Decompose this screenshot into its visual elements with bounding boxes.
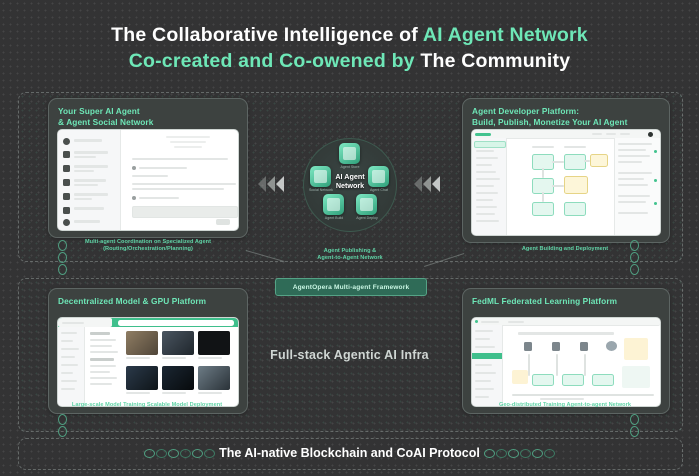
mock-row [476,185,494,187]
chain-link [58,426,67,437]
mock-row [74,170,94,172]
mock-bullet [132,196,136,200]
fullstack-label: Full-stack Agentic AI Infra [0,348,699,362]
mock-row [620,133,630,135]
chain-link-icon [144,449,155,458]
chain-connector-right-bottom [630,414,639,437]
caption-geo-distributed-training: Geo-distributed Training Agent-to-agent … [464,402,666,409]
chain-link [58,252,67,263]
mock-row [62,322,84,325]
mock-row [475,338,490,340]
mock-row [126,392,150,394]
mock-divider [512,394,654,396]
mock-chart-card [622,366,650,388]
mock-row [74,184,98,186]
mock-row [476,157,498,159]
agent-deploy-label: Agent Deploy [345,216,389,221]
mock-row [61,332,77,334]
mock-row [475,330,493,332]
chain-link [630,264,639,275]
caption-agent-building-deployment: Agent Building and Deployment [466,246,664,253]
chevron-group-right [414,176,440,192]
chain-link-icon [532,449,543,458]
mock-flow-node [562,374,584,386]
panel-decentralized-model-gpu-screenshot [57,317,239,407]
mock-icon [63,151,70,158]
mock-flow-node[interactable] [590,154,608,167]
mock-row [476,220,499,222]
mock-model-thumbnail[interactable] [198,366,230,390]
mock-row [74,165,108,168]
mock-row [508,321,524,323]
mock-flow-node[interactable] [564,202,586,216]
mock-avatar [63,138,70,145]
mock-card [512,370,528,384]
fullstack-label-text: Full-stack Agentic AI Infra [270,348,429,362]
mock-row [162,392,186,394]
mock-row [90,339,116,341]
chain-link [58,414,67,425]
chevron-group-left [258,176,284,192]
mock-builder-app [472,130,660,235]
caption-multi-agent-coordination: Multi-agent Coordination on Specialized … [52,239,244,253]
mock-row [618,155,650,157]
mock-flow-link [552,161,564,163]
footer-blockchain-banner: The AI-native Blockchain and CoAI Protoc… [0,440,699,466]
mock-row [132,158,228,160]
mock-row [61,380,77,382]
mock-row [61,388,75,390]
mock-flow-link [584,160,590,162]
chain-link-icon [180,449,191,458]
chevron-left-icon [432,176,440,192]
mock-avatar [648,132,653,137]
mock-row [618,212,648,214]
mock-row [476,150,494,152]
mock-row [198,392,222,394]
mock-row [475,364,492,366]
mock-icon [63,165,70,172]
mock-row [74,179,106,182]
mock-row [90,332,110,335]
mock-status-dot [654,150,657,153]
framework-pill-agentopera[interactable]: AgentOpera Multi-agent Framework [275,278,427,296]
mock-input[interactable] [132,206,238,218]
mock-icon [63,207,70,214]
mock-fedml-app [472,318,660,406]
mock-row [170,141,206,143]
panel-super-ai-agent-title: Your Super AI Agent & Agent Social Netwo… [49,99,247,127]
panel-fedml-federated-learning-title: FedML Federated Learning Platform [463,289,669,307]
mock-chat-app [58,130,238,230]
mock-row [476,164,492,166]
chain-link-icon [156,449,167,458]
mock-row [618,172,652,174]
footer-blockchain-text: The AI-native Blockchain and CoAI Protoc… [219,446,480,460]
mock-icon [63,193,70,200]
mock-row [532,146,554,148]
mock-row [74,151,108,154]
mock-model-hub-app [58,318,238,406]
mock-row [618,184,648,186]
mock-row [476,199,493,201]
chevron-left-icon [423,176,431,192]
mock-row [618,201,646,203]
mock-logo-dot [475,320,478,323]
mock-row [564,146,586,148]
chain-connector-left-bottom [58,414,67,437]
mock-icon [63,179,70,186]
agent-deploy-icon[interactable] [356,194,377,215]
chevron-left-icon [258,176,266,192]
mock-flow-node[interactable] [564,154,586,170]
mock-row [139,167,187,169]
mock-sidebar-active[interactable] [474,141,506,148]
panel-super-ai-agent[interactable]: Your Super AI Agent & Agent Social Netwo… [48,98,248,238]
chain-link [630,252,639,263]
mock-row [475,380,491,382]
chain-link-icon [508,449,519,458]
mock-row [476,171,496,173]
chain-link-icon [192,449,203,458]
mock-model-thumbnail[interactable] [126,366,158,390]
mock-flow-node [532,374,554,386]
hub-ai-agent-network[interactable]: Agent Store Social Network Agent Chat Ag… [303,138,397,232]
title-line-2-accent: Co-created and Co-owened by [129,50,421,72]
mock-sidebar [58,327,85,406]
panel-agent-developer-platform-screenshot [471,129,661,236]
panel-agent-developer-platform-title: Agent Developer Platform: Build, Publish… [463,99,669,127]
mock-row [592,133,602,135]
mock-row [540,398,584,400]
mock-row [166,136,210,138]
page-title: The Collaborative Intelligence of AI Age… [0,22,699,74]
framework-pill-label: AgentOpera Multi-agent Framework [293,284,410,291]
mock-flow-link [542,168,544,178]
mock-row [90,365,116,367]
mock-row [90,377,117,379]
chain-link [58,264,67,275]
panel-decentralized-model-gpu-title: Decentralized Model & GPU Platform [49,289,247,307]
chain-link-icon [168,449,179,458]
mock-row [606,133,616,135]
mock-row [74,207,104,210]
mock-row [61,340,73,342]
mock-flow-node [592,374,614,386]
mock-row [90,371,110,373]
title-line-1-accent: AI Agent Network [423,24,588,46]
chain-decoration-left [144,449,215,458]
mock-row [476,206,497,208]
mock-row [481,321,499,323]
mock-logo [475,133,491,136]
mock-row [74,156,96,158]
panel-fedml-federated-learning-screenshot [471,317,661,407]
mock-flow-node[interactable] [564,176,588,194]
caption-agent-publishing: Agent Publishing & Agent-to-Agent Networ… [295,248,405,262]
title-line-1-white: The Collaborative Intelligence of [111,24,423,46]
agent-build-icon[interactable] [323,194,344,215]
mock-avatar [63,219,70,226]
mock-row [476,192,498,194]
title-line-2: Co-created and Co-owened by The Communit… [0,48,699,74]
chevron-left-icon [276,176,284,192]
mock-row [475,388,494,390]
mock-row [74,220,100,223]
mock-row [618,143,652,145]
chain-link-icon [520,449,531,458]
mock-row [74,198,92,200]
chain-link-icon [204,449,215,458]
panel-agent-developer-platform[interactable]: Agent Developer Platform: Build, Publish… [462,98,670,243]
mock-row [475,396,489,398]
mock-row [618,195,650,197]
mock-flow-link [542,192,544,202]
mock-row [518,332,614,335]
mock-row [476,178,500,180]
mock-row [618,149,646,151]
mock-row [74,139,102,142]
chevron-left-icon [414,176,422,192]
mock-row [174,146,202,148]
mock-model-thumbnail[interactable] [162,366,194,390]
chain-link-icon [496,449,507,458]
chevron-left-icon [267,176,275,192]
mock-right-panel [614,138,660,235]
mock-row [74,193,108,196]
title-line-1: The Collaborative Intelligence of AI Age… [0,22,699,48]
mock-row [139,197,179,199]
mock-bullet [132,166,136,170]
chain-link-icon [544,449,555,458]
mock-row [618,161,642,163]
mock-status-dot [654,202,657,205]
mock-row [132,175,168,177]
mock-send-button[interactable] [216,219,230,225]
caption-large-scale-model-training: Large-scale Model Training Scalable Mode… [50,402,244,409]
title-line-2-white: The Community [420,50,570,72]
chain-decoration-right [484,449,555,458]
hub-label: AI Agent Network [304,172,396,190]
chain-link [630,414,639,425]
mock-row [476,213,495,215]
mock-status-dot [654,179,657,182]
mock-flow-link [552,185,564,187]
mock-row [132,188,224,190]
mock-row [618,178,644,180]
mock-row [475,372,496,374]
chain-link-icon [484,449,495,458]
mock-row [132,183,236,185]
agent-store-label: Agent Store [328,165,372,170]
mock-flow-node[interactable] [532,202,554,216]
mock-row [61,364,78,366]
mock-row [61,372,73,374]
mock-search-input[interactable] [118,320,234,326]
chain-link [630,426,639,437]
mock-row [90,383,112,385]
agent-store-icon[interactable] [339,143,360,164]
panel-super-ai-agent-screenshot [57,129,239,231]
mock-row [90,345,112,347]
